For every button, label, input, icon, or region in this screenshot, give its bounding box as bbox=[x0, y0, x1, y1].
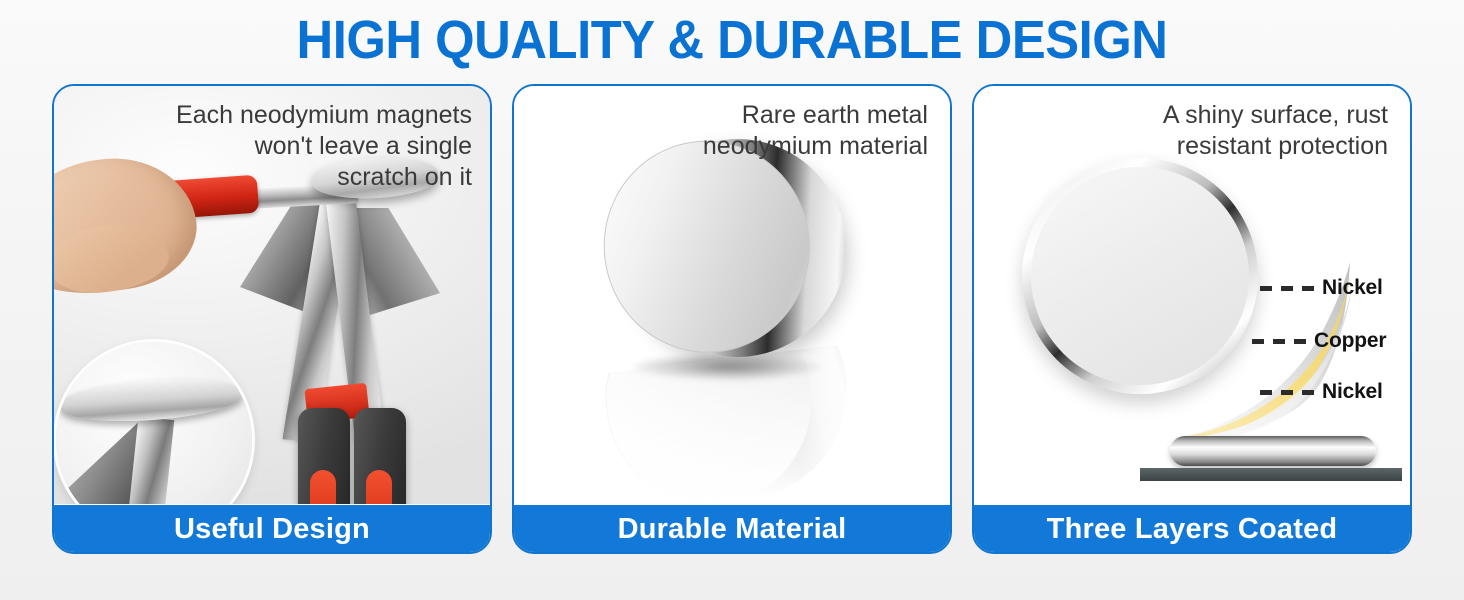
zoom-inset-magnet bbox=[59, 374, 243, 427]
layer-row-nickel-outer: Nickel bbox=[1260, 276, 1383, 300]
leader-line-icon bbox=[1260, 286, 1316, 291]
layer-label-nickel-inner: Nickel bbox=[1322, 380, 1383, 404]
base-plate-icon bbox=[1140, 468, 1402, 481]
feature-card-three-layers-coated[interactable]: Nickel Copper Nickel A shiny surface, ru… bbox=[972, 84, 1412, 554]
coating-layer-labels: Nickel Copper Nickel bbox=[1260, 246, 1410, 446]
layer-label-nickel-outer: Nickel bbox=[1322, 276, 1383, 300]
card-3-caption: A shiny surface, rust resistant protecti… bbox=[1008, 100, 1388, 162]
card-1-footer-label: Useful Design bbox=[53, 505, 491, 553]
card-3-footer-label: Three Layers Coated bbox=[973, 505, 1411, 553]
card-2-caption: Rare earth metal neodymium material bbox=[548, 100, 928, 162]
page-title: HIGH QUALITY & DURABLE DESIGN bbox=[44, 10, 1420, 70]
card-2-footer-label: Durable Material bbox=[513, 505, 951, 553]
tool-handle-right bbox=[354, 408, 406, 504]
tool-handle-left bbox=[298, 408, 350, 504]
feature-card-durable-material[interactable]: Rare earth metal neodymium material Dura… bbox=[512, 84, 952, 554]
layer-label-copper: Copper bbox=[1314, 329, 1386, 353]
leader-line-icon bbox=[1252, 339, 1308, 344]
feature-card-grid: Each neodymium magnets won't leave a sin… bbox=[52, 84, 1414, 554]
card-1-caption: Each neodymium magnets won't leave a sin… bbox=[142, 100, 472, 193]
leader-line-icon bbox=[1260, 390, 1316, 395]
feature-card-useful-design[interactable]: Each neodymium magnets won't leave a sin… bbox=[52, 84, 492, 554]
layer-row-copper: Copper bbox=[1252, 329, 1386, 353]
layer-row-nickel-inner: Nickel bbox=[1260, 380, 1383, 404]
